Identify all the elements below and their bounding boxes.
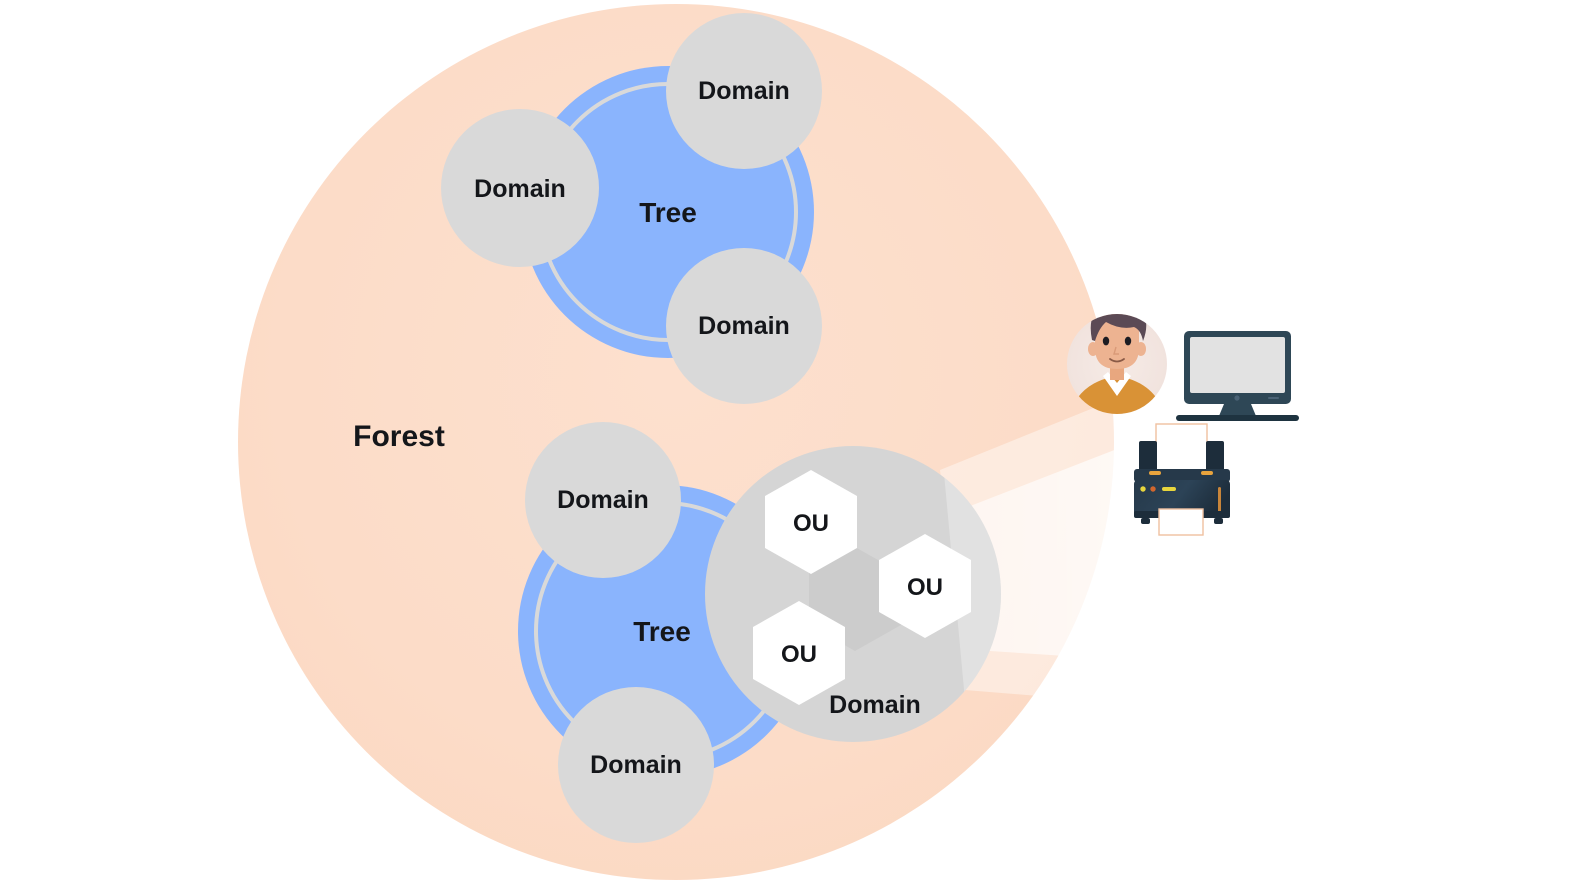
ou-label-right: OU	[907, 574, 943, 601]
monitor-stand-base	[1176, 415, 1299, 421]
domain-node: Domain	[558, 687, 714, 843]
tree-2-label: Tree	[633, 616, 691, 647]
domain-ou-label: Domain	[829, 691, 921, 719]
ou-label-top-left: OU	[793, 510, 829, 537]
printer-foot-right	[1214, 518, 1223, 524]
avatar-eye-right	[1125, 337, 1131, 346]
monitor-screen	[1190, 337, 1285, 393]
domain-node: Domain	[441, 109, 599, 267]
tree-1-domain-top-label: Domain	[698, 77, 790, 105]
monitor-brand-mark	[1268, 397, 1279, 399]
domain-node: Domain	[666, 13, 822, 169]
ad-forest-diagram: Forest Domain Domain Domain Tree	[0, 0, 1583, 887]
monitor-stand-neck	[1219, 404, 1256, 416]
tree-1-domain-left-label: Domain	[474, 175, 566, 203]
printer-top-accent-left	[1149, 471, 1161, 475]
avatar-eye-left	[1103, 337, 1109, 346]
tree-2-domain-bottom-label: Domain	[590, 751, 682, 779]
printer-foot-left	[1141, 518, 1150, 524]
diagram-canvas: Forest Domain Domain Domain Tree	[0, 0, 1583, 887]
tree-2-domain-top-label: Domain	[557, 486, 649, 514]
tree-1-domain-bottom-label: Domain	[698, 312, 790, 340]
domain-node: Domain	[666, 248, 822, 404]
printer-led-orange	[1150, 486, 1155, 491]
printer-top-accent-right	[1201, 471, 1213, 475]
domain-node: Domain	[525, 422, 681, 578]
monitor-power-dot	[1234, 395, 1239, 400]
ou-label-bottom-left: OU	[781, 641, 817, 668]
forest-label: Forest	[353, 420, 445, 453]
printer-side-slot	[1218, 487, 1221, 513]
printer-paper-top	[1156, 424, 1207, 474]
printer-control-bar	[1162, 487, 1176, 491]
printer-feed-right	[1206, 441, 1224, 473]
printer-paper-out	[1159, 509, 1203, 535]
printer-led-green	[1140, 486, 1145, 491]
tree-1-label: Tree	[639, 197, 697, 228]
printer-feed-left	[1139, 441, 1157, 473]
